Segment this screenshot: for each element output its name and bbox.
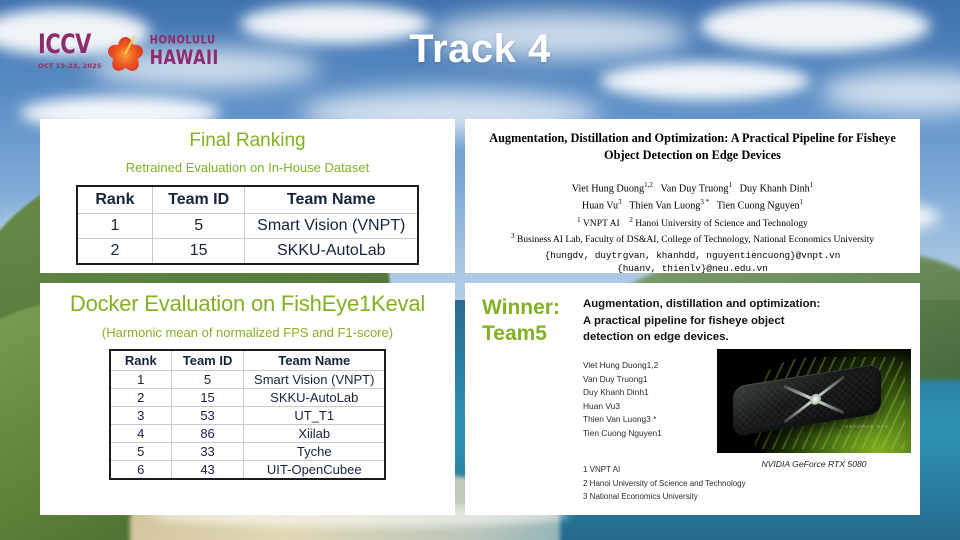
gpu-photo: GEFORCE RTX bbox=[717, 349, 911, 453]
table-row: 533Tyche bbox=[110, 443, 386, 461]
gpu-x-icon bbox=[779, 368, 837, 431]
column-header-team-id: Team ID bbox=[172, 350, 244, 371]
prize-figure: GEFORCE RTX NVIDIA GeForce RTX 5080 bbox=[717, 349, 911, 469]
table-row: 643UIT-OpenCubee bbox=[110, 461, 386, 480]
author-name: Van Duy Truong bbox=[661, 184, 729, 195]
table-cell: Smart Vision (VNPT) bbox=[245, 214, 419, 239]
table-cell: 1 bbox=[110, 371, 172, 389]
winner-authors-list: Viet Hung Duong1,2Van Duy Truong1Duy Kha… bbox=[583, 359, 662, 441]
table-row: 215SKKU-AutoLab bbox=[77, 239, 419, 265]
table-header-row: RankTeam IDTeam Name bbox=[77, 186, 419, 214]
table-cell: 33 bbox=[172, 443, 244, 461]
winner-paper-title: Augmentation, distillation and optimizat… bbox=[583, 296, 883, 346]
affil-text-2: Hanoi University of Science and Technolo… bbox=[635, 218, 808, 229]
table-cell: 2 bbox=[77, 239, 153, 265]
table-cell: 5 bbox=[110, 443, 172, 461]
winner-panel: Winner: Team5 Augmentation, distillation… bbox=[465, 283, 920, 515]
author-affiliation-marker: 1 bbox=[728, 181, 732, 189]
gpu-badge-text: GEFORCE RTX bbox=[845, 424, 889, 429]
winner-title-line1: Augmentation, distillation and optimizat… bbox=[583, 296, 883, 313]
paper-affiliation-line1: 1 VNPT AI 2 Hanoi University of Science … bbox=[479, 215, 906, 231]
affil-text-3: Business AI Lab, Faculty of DS&AI, Colle… bbox=[517, 234, 874, 245]
paper-email-line2: {huanv, thienlv}@neu.edu.vn bbox=[479, 262, 906, 273]
author-name: Huan Vu bbox=[582, 201, 618, 212]
author-affiliation-marker: 3 bbox=[618, 198, 622, 206]
author-name: Thien Van Luong bbox=[629, 201, 700, 212]
table-cell: Smart Vision (VNPT) bbox=[244, 371, 386, 389]
author-name: Tien Cuong Nguyen bbox=[717, 201, 800, 212]
table-body: 15Smart Vision (VNPT)215SKKU-AutoLab bbox=[77, 214, 419, 265]
table-cell: 15 bbox=[153, 239, 245, 265]
winner-author-item: Thien Van Luong3 * bbox=[583, 413, 662, 427]
author-name: Viet Hung Duong bbox=[572, 184, 644, 195]
table-cell: SKKU-AutoLab bbox=[244, 389, 386, 407]
final-ranking-panel: Final Ranking Retrained Evaluation on In… bbox=[40, 119, 455, 273]
prize-caption: NVIDIA GeForce RTX 5080 bbox=[717, 459, 911, 469]
docker-evaluation-heading: Docker Evaluation on FishEye1Keval bbox=[40, 291, 455, 317]
winner-title-line2: A practical pipeline for fisheye object bbox=[583, 313, 883, 330]
winner-author-item: Huan Vu3 bbox=[583, 400, 662, 414]
table-cell: 3 bbox=[110, 407, 172, 425]
paper-authors-line2: Huan Vu3 Thien Van Luong3 * Tien Cuong N… bbox=[479, 197, 906, 214]
winner-affiliation-item: 3 National Economics University bbox=[583, 490, 746, 504]
table-cell: 4 bbox=[110, 425, 172, 443]
affil-sup-3: 3 bbox=[511, 232, 515, 240]
table-cell: 2 bbox=[110, 389, 172, 407]
author-name: Duy Khanh Dinh bbox=[740, 184, 810, 195]
slide-root: ICCV OCT 19-23, 2025 HONOLULU HAWAII Tra… bbox=[0, 0, 960, 540]
paper-title-line1: Augmentation, Distillation and Optimizat… bbox=[489, 131, 896, 145]
column-header-team-id: Team ID bbox=[153, 186, 245, 214]
paper-email-line1: {hungdv, duytrgvan, khanhdd, nguyentienc… bbox=[479, 249, 906, 262]
paper-authors-line1: Viet Hung Duong1,2 Van Duy Truong1 Duy K… bbox=[479, 180, 906, 197]
paper-affiliation-line2: 3 Business AI Lab, Faculty of DS&AI, Col… bbox=[479, 231, 906, 247]
table-cell: 53 bbox=[172, 407, 244, 425]
table-cell: 15 bbox=[172, 389, 244, 407]
column-header-team-name: Team Name bbox=[244, 350, 386, 371]
winner-affiliations-list: 1 VNPT AI2 Hanoi University of Science a… bbox=[583, 463, 746, 504]
table-cell: UIT-OpenCubee bbox=[244, 461, 386, 480]
winner-title-line3: detection on edge devices. bbox=[583, 329, 883, 346]
docker-evaluation-panel: Docker Evaluation on FishEye1Keval (Harm… bbox=[40, 283, 455, 515]
table-cell: Xiilab bbox=[244, 425, 386, 443]
table-row: 215SKKU-AutoLab bbox=[110, 389, 386, 407]
column-header-rank: Rank bbox=[77, 186, 153, 214]
final-ranking-table: RankTeam IDTeam Name 15Smart Vision (VNP… bbox=[76, 185, 420, 265]
affil-sup-1: 1 bbox=[577, 216, 581, 224]
winner-author-item: Viet Hung Duong1,2 bbox=[583, 359, 662, 373]
column-header-team-name: Team Name bbox=[245, 186, 419, 214]
table-cell: 43 bbox=[172, 461, 244, 480]
docker-evaluation-table: RankTeam IDTeam Name 15Smart Vision (VNP… bbox=[109, 349, 387, 480]
final-ranking-heading: Final Ranking bbox=[40, 130, 455, 152]
table-body: 15Smart Vision (VNPT)215SKKU-AutoLab353U… bbox=[110, 371, 386, 480]
table-cell: 5 bbox=[172, 371, 244, 389]
table-cell: 6 bbox=[110, 461, 172, 480]
winner-author-item: Duy Khanh Dinh1 bbox=[583, 386, 662, 400]
affil-text-1: VNPT AI bbox=[583, 218, 620, 229]
table-cell: UT_T1 bbox=[244, 407, 386, 425]
winner-label: Winner: Team5 bbox=[482, 295, 560, 348]
winner-affiliation-item: 2 Hanoi University of Science and Techno… bbox=[583, 477, 746, 491]
paper-title: Augmentation, Distillation and Optimizat… bbox=[479, 130, 906, 163]
winner-label-line1: Winner: bbox=[482, 295, 560, 321]
final-ranking-subheading: Retrained Evaluation on In-House Dataset bbox=[40, 160, 455, 175]
paper-title-line2: Object Detection on Edge Devices bbox=[604, 148, 781, 162]
table-row: 486Xiilab bbox=[110, 425, 386, 443]
table-row: 15Smart Vision (VNPT) bbox=[110, 371, 386, 389]
author-affiliation-marker: 1,2 bbox=[644, 181, 653, 189]
paper-authors-block: Viet Hung Duong1,2 Van Duy Truong1 Duy K… bbox=[479, 180, 906, 247]
table-row: 15Smart Vision (VNPT) bbox=[77, 214, 419, 239]
paper-emails-block: {hungdv, duytrgvan, khanhdd, nguyentienc… bbox=[479, 249, 906, 273]
table-cell: SKKU-AutoLab bbox=[245, 239, 419, 265]
table-cell: Tyche bbox=[244, 443, 386, 461]
author-affiliation-marker: 1 bbox=[810, 181, 814, 189]
affil-sup-2: 2 bbox=[629, 216, 633, 224]
page-title: Track 4 bbox=[0, 27, 960, 72]
paper-header-panel: Augmentation, Distillation and Optimizat… bbox=[465, 119, 920, 273]
column-header-rank: Rank bbox=[110, 350, 172, 371]
winner-author-item: Tien Cuong Nguyen1 bbox=[583, 427, 662, 441]
table-cell: 1 bbox=[77, 214, 153, 239]
author-affiliation-marker: 3 * bbox=[700, 198, 709, 206]
table-cell: 5 bbox=[153, 214, 245, 239]
table-cell: 86 bbox=[172, 425, 244, 443]
winner-label-line2: Team5 bbox=[482, 321, 560, 347]
docker-evaluation-subheading: (Harmonic mean of normalized FPS and F1-… bbox=[40, 325, 455, 340]
table-row: 353UT_T1 bbox=[110, 407, 386, 425]
table-header-row: RankTeam IDTeam Name bbox=[110, 350, 386, 371]
author-affiliation-marker: 1 bbox=[800, 198, 804, 206]
winner-author-item: Van Duy Truong1 bbox=[583, 373, 662, 387]
